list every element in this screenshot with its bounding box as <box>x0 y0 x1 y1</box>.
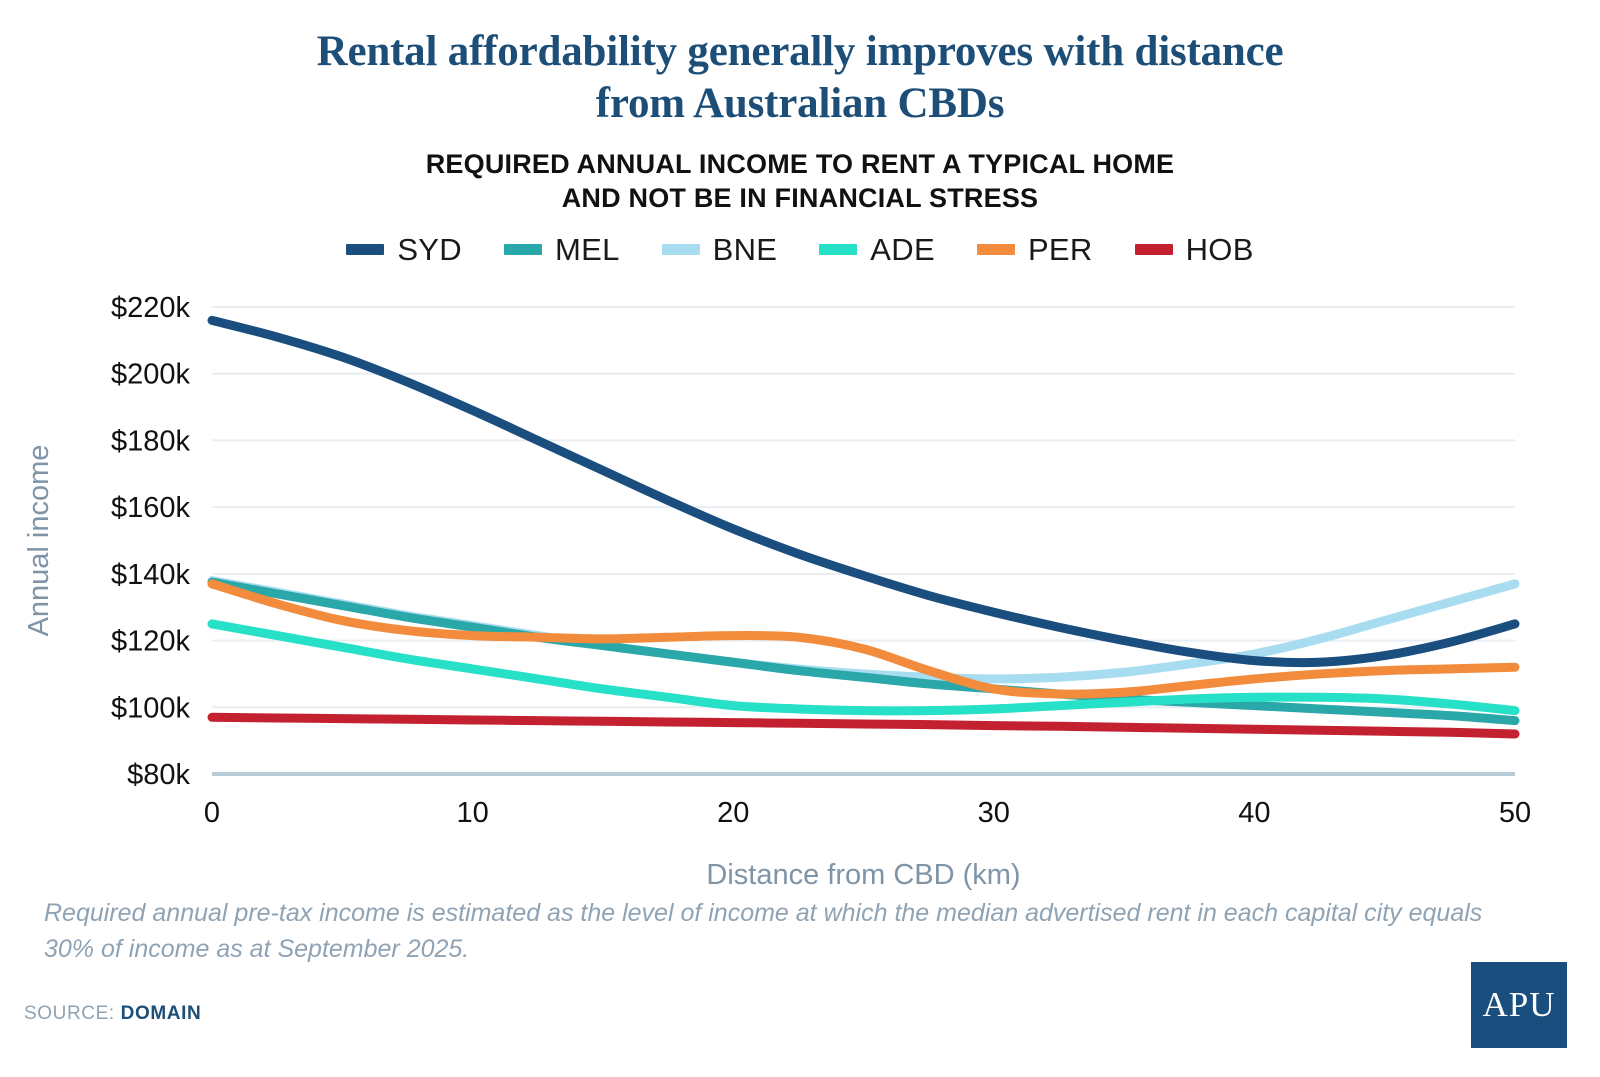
legend-label-per: PER <box>1028 234 1093 265</box>
line-chart: $80k$100k$120k$140k$160k$180k$200k$220k0… <box>0 271 1600 891</box>
x-axis-tick-label: 30 <box>978 797 1010 829</box>
x-axis-tick-label: 0 <box>204 797 220 829</box>
y-axis-tick-label: $120k <box>111 626 191 658</box>
chart-footnote: Required annual pre-tax income is estima… <box>44 895 1504 968</box>
subtitle-line-1: REQUIRED ANNUAL INCOME TO RENT A TYPICAL… <box>426 149 1175 179</box>
legend-item-mel[interactable]: MEL <box>504 234 620 265</box>
legend-swatch-ade <box>819 244 857 255</box>
source-line: SOURCE: DOMAIN <box>24 1003 201 1025</box>
x-axis-tick-label: 40 <box>1238 797 1270 829</box>
apu-logo: APU <box>1471 962 1567 1048</box>
y-axis-title: Annual income <box>23 445 55 637</box>
line-series-hob <box>212 717 1515 734</box>
x-axis-title: Distance from CBD (km) <box>706 859 1020 891</box>
legend-swatch-syd <box>346 244 384 255</box>
subtitle-line-2: AND NOT BE IN FINANCIAL STRESS <box>562 183 1039 213</box>
legend-item-hob[interactable]: HOB <box>1135 234 1254 265</box>
y-axis-tick-label: $140k <box>111 559 191 591</box>
source-prefix: SOURCE: <box>24 1003 121 1024</box>
y-axis-tick-label: $80k <box>127 759 190 791</box>
source-name: DOMAIN <box>121 1003 202 1024</box>
legend-label-syd: SYD <box>397 234 462 265</box>
legend-item-per[interactable]: PER <box>977 234 1093 265</box>
legend-label-mel: MEL <box>555 234 620 265</box>
legend-swatch-hob <box>1135 244 1173 255</box>
page-headline: Rental affordability generally improves … <box>0 0 1600 131</box>
y-axis-tick-label: $180k <box>111 425 191 457</box>
apu-logo-text: APU <box>1482 985 1555 1025</box>
chart-container: $80k$100k$120k$140k$160k$180k$200k$220k0… <box>0 271 1600 891</box>
chart-subtitle: REQUIRED ANNUAL INCOME TO RENT A TYPICAL… <box>0 131 1600 216</box>
x-axis-tick-label: 50 <box>1499 797 1531 829</box>
legend-item-bne[interactable]: BNE <box>662 234 778 265</box>
x-axis-tick-label: 20 <box>717 797 749 829</box>
legend-label-hob: HOB <box>1186 234 1254 265</box>
legend-item-syd[interactable]: SYD <box>346 234 462 265</box>
y-axis-tick-label: $220k <box>111 292 191 324</box>
legend-swatch-mel <box>504 244 542 255</box>
chart-legend: SYDMELBNEADEPERHOB <box>0 234 1600 265</box>
x-axis-tick-label: 10 <box>456 797 488 829</box>
legend-label-bne: BNE <box>713 234 778 265</box>
legend-label-ade: ADE <box>870 234 935 265</box>
legend-swatch-bne <box>662 244 700 255</box>
legend-swatch-per <box>977 244 1015 255</box>
legend-item-ade[interactable]: ADE <box>819 234 935 265</box>
y-axis-tick-label: $160k <box>111 492 191 524</box>
headline-line-1: Rental affordability generally improves … <box>317 28 1284 75</box>
y-axis-tick-label: $100k <box>111 692 191 724</box>
headline-line-2: from Australian CBDs <box>596 80 1005 127</box>
y-axis-tick-label: $200k <box>111 359 191 391</box>
